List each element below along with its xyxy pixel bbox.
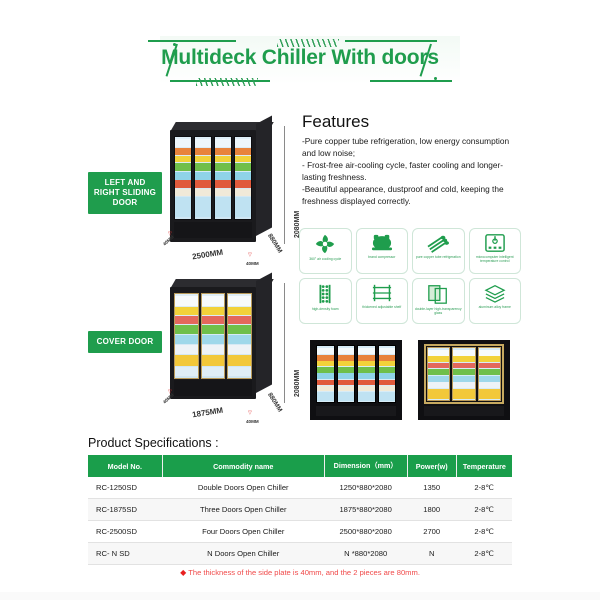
- product-render-sliding-door: LEFT AND RIGHT SLIDING DOOR: [88, 118, 298, 268]
- photo-door: [478, 347, 501, 401]
- banner-line-top-right: [345, 40, 437, 42]
- four-door-chiller-photo: [310, 340, 402, 420]
- cell-dimension: 2500*880*2080: [324, 521, 407, 543]
- glass-icon: [426, 283, 450, 305]
- feature-card-temperature-control: microcomputer intelligent temperature co…: [469, 228, 522, 274]
- banner-line-top-left: [148, 40, 236, 42]
- foam-icon: [314, 283, 336, 305]
- feature-card-label: thickened adjustable shelf: [361, 305, 402, 309]
- cell-power: 1800: [407, 499, 456, 521]
- feature-card-adjustable-shelf: thickened adjustable shelf: [356, 278, 409, 324]
- cabinet-plinth: [174, 380, 252, 396]
- cell-commodity: Double Doors Open Chiller: [162, 477, 324, 499]
- cabinet-4-door: [170, 122, 282, 247]
- cell-temperature: 2-8℃: [456, 499, 512, 521]
- photo-door: [427, 347, 450, 401]
- glass-door[interactable]: [174, 293, 199, 379]
- table-row: RC-1250SD Double Doors Open Chiller 1250…: [88, 477, 512, 499]
- feature-card-glass: double-layer high-transparency glass: [412, 278, 465, 324]
- table-row: RC-1875SD Three Doors Open Chiller 1875*…: [88, 499, 512, 521]
- cell-commodity: N Doors Open Chiller: [162, 543, 324, 565]
- feature-card-copper-tube: pure copper tube refrigeration: [412, 228, 465, 274]
- plate-marker-right: ▽: [248, 252, 252, 258]
- fan-icon: [314, 233, 336, 255]
- table-row: RC-2500SD Four Doors Open Chiller 2500*8…: [88, 521, 512, 543]
- cell-power: 1350: [407, 477, 456, 499]
- cabinet-side-panel: [256, 115, 272, 236]
- glass-door[interactable]: [234, 136, 252, 220]
- col-dimension: Dimension（mm）: [324, 455, 407, 477]
- feature-card-air-cooling: 360° air cooling cycle: [299, 228, 352, 274]
- cell-commodity: Four Doors Open Chiller: [162, 521, 324, 543]
- alloy-frame-icon: [483, 283, 507, 303]
- bottom-strip: [0, 592, 600, 600]
- cell-commodity: Three Doors Open Chiller: [162, 499, 324, 521]
- glass-door[interactable]: [194, 136, 212, 220]
- dim-width-label: 2500MM: [191, 248, 223, 262]
- feature-card-compressor: brand compressor: [356, 228, 409, 274]
- feature-card-foam: high-density foam: [299, 278, 352, 324]
- features-body: -Pure copper tube refrigeration, low ene…: [302, 135, 520, 207]
- three-door-chiller-photo: [418, 340, 510, 420]
- dim-plate-right-label: 40MM: [246, 419, 259, 424]
- cell-temperature: 2-8℃: [456, 521, 512, 543]
- feature-card-label: high-density foam: [311, 307, 340, 311]
- photo-plinth: [424, 406, 504, 416]
- cell-dimension: N *880*2080: [324, 543, 407, 565]
- plate-marker-left: ▽: [168, 231, 172, 237]
- col-commodity: Commodity name: [162, 455, 324, 477]
- cell-temperature: 2-8℃: [456, 543, 512, 565]
- title-banner: Multideck Chiller With doors: [0, 28, 600, 94]
- feature-card-label: pure copper tube refrigeration: [415, 255, 462, 259]
- col-temperature: Temperature: [456, 455, 512, 477]
- photo-plinth: [316, 406, 396, 416]
- table-header-row: Model No. Commodity name Dimension（mm） P…: [88, 455, 512, 477]
- footnote-text: The thickness of the side plate is 40mm,…: [188, 568, 420, 577]
- compressor-icon: [370, 233, 394, 253]
- page-title: Multideck Chiller With doors: [0, 46, 600, 70]
- cabinet-plinth: [174, 222, 252, 238]
- copper-tube-icon: [425, 233, 451, 253]
- dim-plate-right-label: 40MM: [246, 261, 259, 266]
- cell-dimension: 1875*880*2080: [324, 499, 407, 521]
- feature-card-label: aluminum alloy frame: [478, 305, 512, 309]
- photo-door: [316, 345, 335, 403]
- badge-cover-door: COVER DOOR: [88, 331, 162, 353]
- dim-height-label: 2080MM: [294, 211, 301, 238]
- col-model-no: Model No.: [88, 455, 162, 477]
- dim-line-height: [284, 283, 285, 403]
- features-heading: Features: [302, 112, 520, 132]
- door-group: [174, 136, 252, 220]
- cabinet-side-panel: [256, 272, 272, 393]
- shelf-icon: [370, 283, 394, 303]
- feature-card-label: microcomputer intelligent temperature co…: [470, 255, 521, 264]
- diamond-icon: ◆: [180, 568, 186, 577]
- thermostat-icon: [484, 233, 506, 253]
- banner-line-bottom-right: [370, 80, 452, 82]
- door-group: [174, 293, 252, 379]
- feature-card-label: brand compressor: [367, 255, 396, 259]
- footnote: ◆ The thickness of the side plate is 40m…: [0, 568, 600, 577]
- dim-width-label: 1875MM: [191, 406, 223, 420]
- dim-height-label: 2080MM: [294, 370, 301, 397]
- feature-card-label: double-layer high-transparency glass: [413, 307, 464, 316]
- photo-door: [337, 345, 356, 403]
- spec-table: Model No. Commodity name Dimension（mm） P…: [88, 455, 512, 565]
- cell-power: N: [407, 543, 456, 565]
- plate-marker-left: ▽: [168, 389, 172, 395]
- feature-card-label: 360° air cooling cycle: [308, 257, 342, 261]
- glass-door[interactable]: [174, 136, 192, 220]
- cell-model: RC-1875SD: [88, 499, 162, 521]
- plate-marker-right: ▽: [248, 410, 252, 416]
- features-section: Features -Pure copper tube refrigeration…: [302, 112, 520, 207]
- cell-temperature: 2-8℃: [456, 477, 512, 499]
- feature-card-alloy-frame: aluminum alloy frame: [469, 278, 522, 324]
- glass-door[interactable]: [227, 293, 252, 379]
- cabinet-3-door: [170, 279, 282, 404]
- badge-left-right-sliding-door: LEFT AND RIGHT SLIDING DOOR: [88, 172, 162, 214]
- cell-model: RC-1250SD: [88, 477, 162, 499]
- product-render-cover-door: COVER DOOR: [88, 275, 298, 425]
- cell-dimension: 1250*880*2080: [324, 477, 407, 499]
- spec-table-title: Product Specifications :: [88, 436, 219, 450]
- feature-icon-grid: 360° air cooling cycle brand compressor: [299, 228, 521, 324]
- cell-model: RC-2500SD: [88, 521, 162, 543]
- banner-dot-right: [434, 77, 437, 80]
- col-power: Power(w): [407, 455, 456, 477]
- dim-line-height: [284, 126, 285, 244]
- table-row: RC- N SD N Doors Open Chiller N *880*208…: [88, 543, 512, 565]
- cell-power: 2700: [407, 521, 456, 543]
- cell-model: RC- N SD: [88, 543, 162, 565]
- glass-door[interactable]: [214, 136, 232, 220]
- photo-door: [452, 347, 475, 401]
- glass-door[interactable]: [201, 293, 226, 379]
- banner-hatch-bottom: [196, 78, 258, 86]
- photo-door: [378, 345, 397, 403]
- photo-door: [357, 345, 376, 403]
